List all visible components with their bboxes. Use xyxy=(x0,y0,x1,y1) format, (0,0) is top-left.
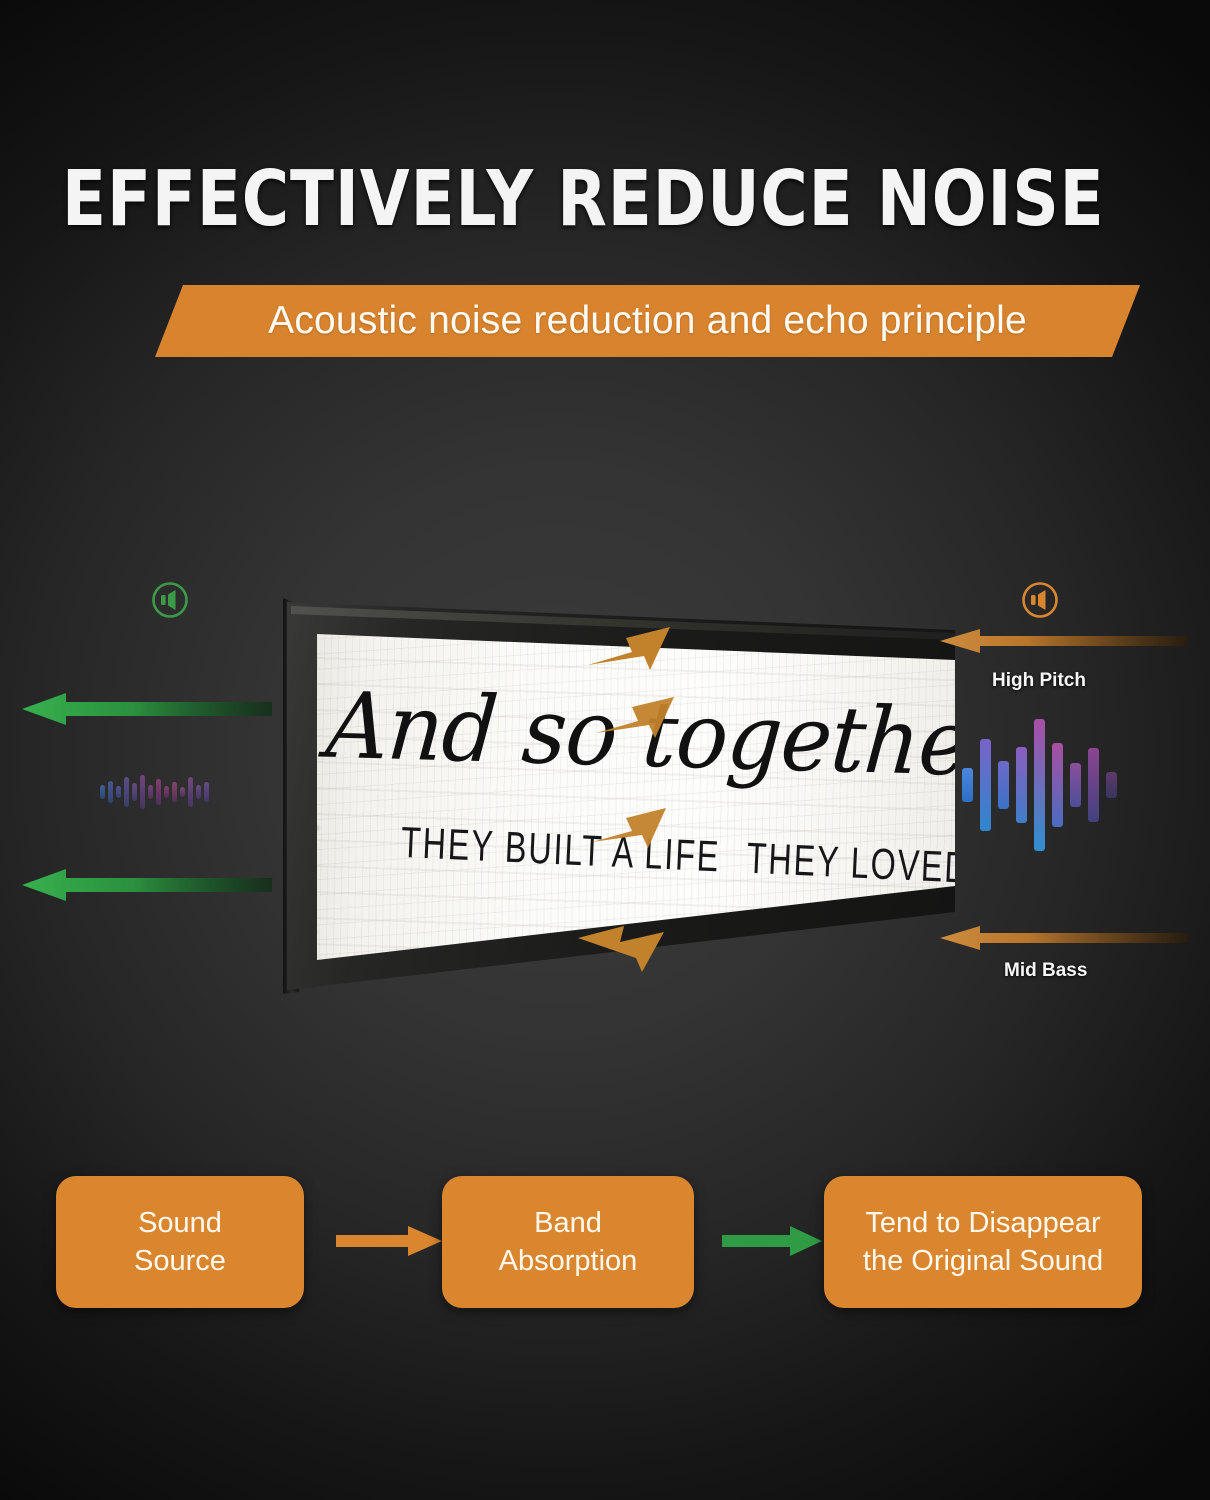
subtitle-banner: Acoustic noise reduction and echo princi… xyxy=(155,285,1140,357)
flow-step-2-line2: Absorption xyxy=(499,1242,638,1280)
process-flow: Sound Source Band Absorption Tend to Dis… xyxy=(0,1176,1210,1316)
absorption-arrow-top-right xyxy=(586,618,672,677)
attenuated-waveform xyxy=(100,760,209,824)
green-arrow-left-bottom xyxy=(22,866,272,909)
page-title: EFFECTIVELY REDUCE NOISE xyxy=(62,160,992,240)
speaker-orange-icon xyxy=(1018,578,1062,622)
sign-sub-right: THEY LOVED xyxy=(746,834,955,893)
high-pitch-label: High Pitch xyxy=(992,670,1086,692)
flow-step-sound-source[interactable]: Sound Source xyxy=(56,1176,304,1308)
absorption-arrow-mid-right xyxy=(594,688,676,745)
speaker-green-icon xyxy=(148,578,192,622)
flow-step-2-line1: Band xyxy=(534,1204,602,1242)
sign-sub-left: THEY BUILT A LIFE xyxy=(400,819,721,882)
flow-step-3-line2: the Original Sound xyxy=(863,1242,1103,1280)
green-arrow-left-top xyxy=(22,690,272,733)
subtitle-banner-label: Acoustic noise reduction and echo princi… xyxy=(155,285,1140,357)
infographic-canvas: EFFECTIVELY REDUCE NOISE Acoustic noise … xyxy=(0,0,1210,1500)
green-arrow-right xyxy=(722,1224,822,1263)
flow-step-1-line2: Source xyxy=(134,1242,226,1280)
mid-bass-arrow xyxy=(940,922,1188,959)
absorption-arrow-bottom-right xyxy=(576,920,668,981)
orange-arrow-right xyxy=(336,1224,442,1263)
source-waveform xyxy=(962,720,1117,850)
mid-bass-label: Mid Bass xyxy=(1004,960,1087,982)
flow-step-band-absorption[interactable]: Band Absorption xyxy=(442,1176,694,1308)
flow-step-tend-to-disappear[interactable]: Tend to Disappear the Original Sound xyxy=(824,1176,1142,1308)
flow-step-1-line1: Sound xyxy=(138,1204,222,1242)
absorption-arrow-mid-left xyxy=(590,800,668,855)
high-pitch-arrow xyxy=(940,625,1188,662)
flow-step-3-line1: Tend to Disappear xyxy=(865,1204,1100,1242)
